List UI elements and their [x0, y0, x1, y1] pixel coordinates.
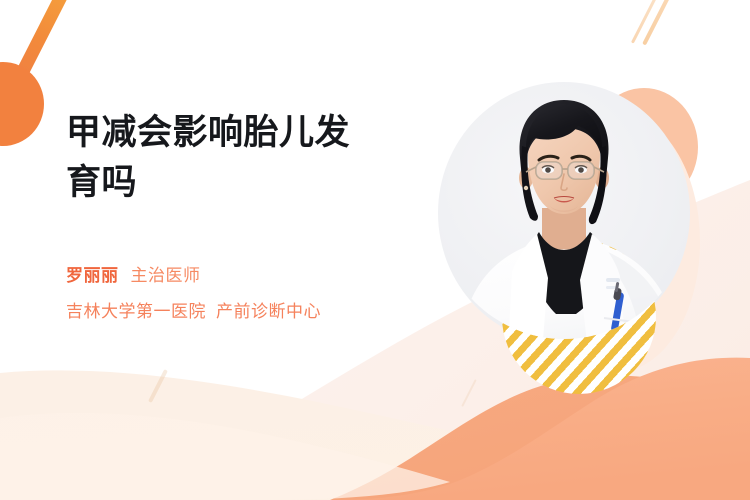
doctor-byline: 罗丽丽主治医师	[66, 261, 426, 291]
doctor-name: 罗丽丽	[66, 266, 119, 285]
glasses-lens-left	[536, 162, 562, 179]
text-content-block: 甲减会影响胎儿发育吗 罗丽丽主治医师 吉林大学第一医院产前诊断中心	[66, 108, 426, 325]
doctor-neck	[542, 208, 586, 250]
doctor-professional-title: 主治医师	[131, 266, 201, 285]
stripe-peach-primary-icon	[642, 0, 674, 46]
doctor-affiliation: 吉林大学第一医院产前诊断中心	[66, 299, 426, 325]
wave-salmon-dark	[330, 375, 750, 500]
stripe-orange-thick-icon	[3, 0, 83, 103]
stripe-peach-secondary-icon	[631, 0, 660, 43]
page-title: 甲减会影响胎儿发育吗	[66, 108, 426, 208]
wave-cream-overlay	[0, 413, 450, 500]
doctor-portrait	[438, 82, 700, 352]
doctor-figure-illustration	[438, 82, 700, 352]
orange-circle-decoration	[0, 62, 44, 146]
stripe-faint-lower-center-icon	[461, 379, 476, 407]
coat-logo-mark-2	[606, 286, 616, 289]
glasses-lens-right	[568, 162, 594, 179]
affiliation-hospital: 吉林大学第一医院	[66, 302, 206, 321]
coat-logo-mark	[606, 278, 620, 282]
video-cover-card: 甲减会影响胎儿发育吗 罗丽丽主治医师 吉林大学第一医院产前诊断中心	[0, 0, 750, 500]
stripe-faint-lower-left-icon	[148, 369, 168, 403]
title-line-2: 育吗	[66, 163, 137, 202]
earring-icon	[524, 186, 528, 190]
stripe-yellow-thin-icon	[0, 0, 70, 122]
affiliation-department: 产前诊断中心	[216, 302, 321, 321]
title-line-1: 甲减会影响胎儿发	[66, 113, 350, 152]
wave-cream-left	[0, 370, 750, 500]
